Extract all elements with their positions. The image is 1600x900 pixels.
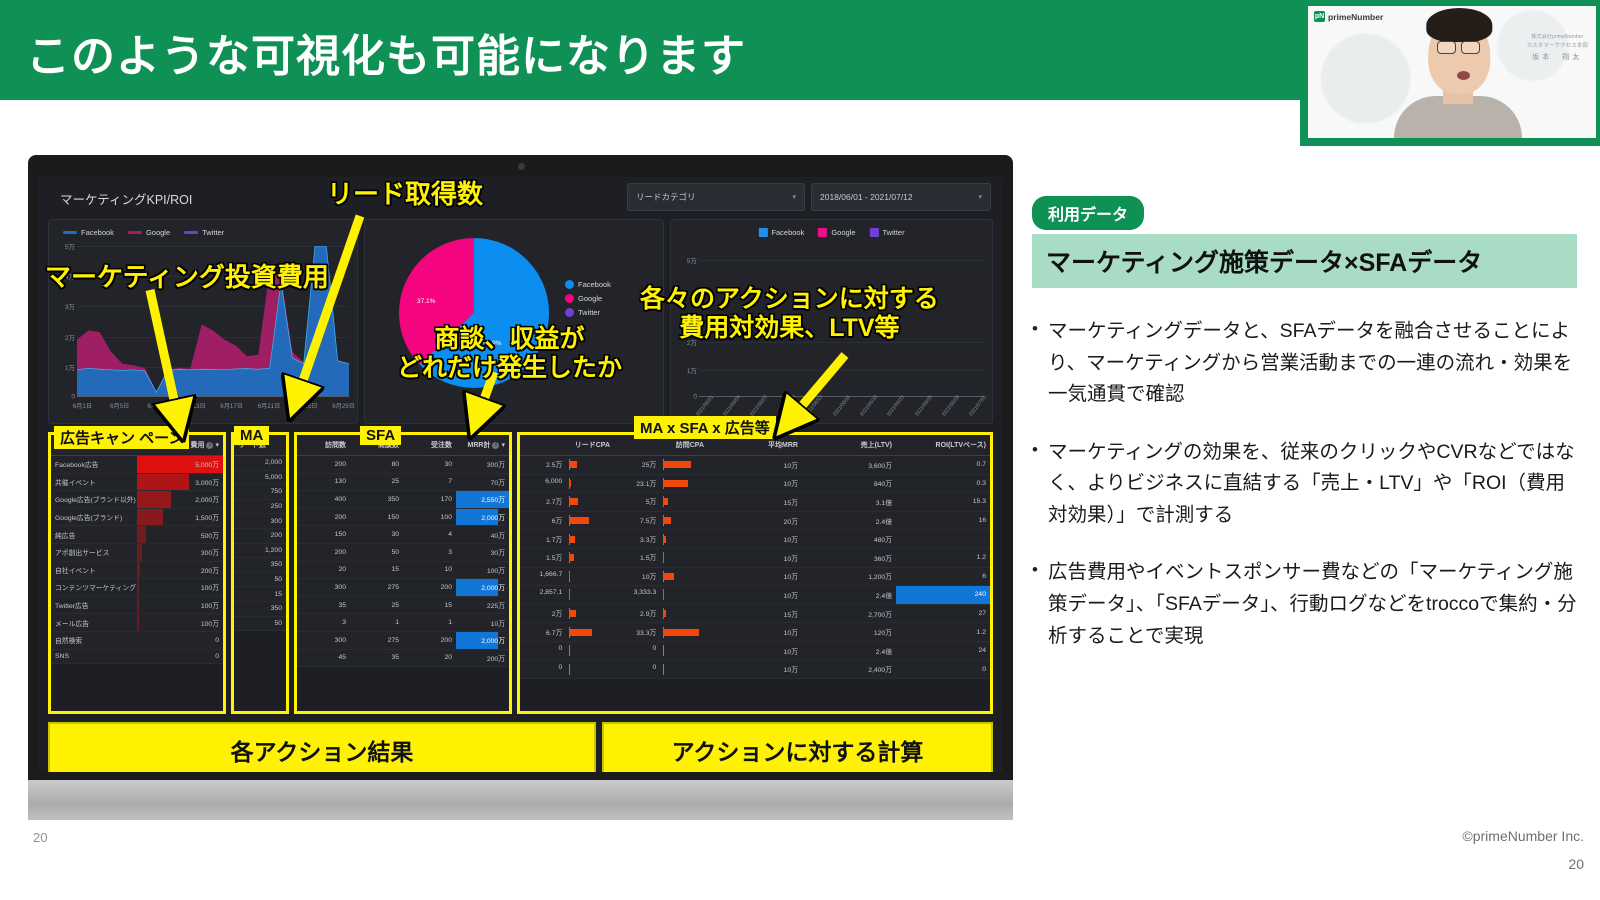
campaign-name: メール広告	[51, 614, 137, 632]
deal-count: 350	[350, 491, 403, 509]
y-tick: 3万	[65, 301, 75, 311]
dashboard-header: マーケティングKPI/ROI リードカテゴリ ▾ 2018/06/01 - 20…	[38, 177, 1003, 219]
visit-count: 200	[297, 508, 350, 526]
roi: 240	[896, 586, 990, 605]
lead-cpa: 2,857.1	[520, 586, 614, 605]
visit-count: 130	[297, 473, 350, 491]
table-row[interactable]: 1,666.7 10万 10万 1,200万 6	[520, 567, 990, 586]
y-tick: 1万	[65, 362, 75, 372]
table-row[interactable]: 1.7万 3.3万 10万 480万	[520, 530, 990, 549]
table-row[interactable]: 50	[234, 572, 286, 587]
mrr-total: 70万	[456, 473, 509, 491]
lead-cpa: 0	[520, 641, 614, 660]
table-row[interactable]: メール広告 100万	[51, 614, 223, 632]
bar-chart-legend: Facebook Google Twitter	[758, 228, 904, 237]
x-tick: 2021/06/13	[804, 394, 824, 417]
x-tick: 2021/06/04	[722, 394, 742, 417]
visit-cpa: 25万	[614, 456, 708, 475]
campaign-cost: 1,500万	[137, 508, 223, 526]
pie-chart-legend: Facebook Google Twitter	[565, 280, 611, 322]
visit-cpa: 0	[614, 641, 708, 660]
lead-cpa: 6.7万	[520, 623, 614, 642]
roi: 27	[896, 604, 990, 623]
lead-count: 50	[234, 616, 286, 631]
ltv: 120万	[802, 623, 896, 642]
campaign-name: 純広告	[51, 526, 137, 544]
table-row[interactable]: 6,000 23.1万 10万 840万 0.3	[520, 474, 990, 493]
table-row[interactable]: 2万 2.9万 15万 2,700万 27	[520, 604, 990, 623]
mrr-total: 30万	[456, 543, 509, 561]
campaign-cost: 2,000万	[137, 491, 223, 509]
mrr-total: 2,000万	[456, 579, 509, 597]
x-tick: 2021/06/28	[941, 394, 961, 417]
deal-count: 35	[350, 649, 403, 667]
lead-cpa: 2万	[520, 604, 614, 623]
deal-count: 15	[350, 561, 403, 579]
legend-swatch	[63, 231, 77, 234]
order-count: 30	[403, 456, 456, 474]
campaign-cost: 300万	[137, 543, 223, 561]
table-row[interactable]: 6.7万 33.3万 10万 120万 1.2	[520, 623, 990, 642]
x-tick: 2021/06/16	[831, 394, 851, 417]
y-tick: 0	[693, 394, 697, 401]
table-row[interactable]: コンテンツマーケティング 100万	[51, 579, 223, 597]
lead-cpa: 1.7万	[520, 530, 614, 549]
order-count: 1	[403, 614, 456, 632]
webcam-panel: pN primeNumber 株式会社primeNumber カスタマーサクセス…	[1300, 0, 1600, 146]
lead-count: 250	[234, 499, 286, 514]
campaign-cost: 0	[137, 631, 223, 649]
y-tick: 5万	[65, 241, 75, 251]
visit-cpa: 5万	[614, 493, 708, 512]
campaign-name: 自社イベント	[51, 561, 137, 579]
deal-count: 25	[350, 473, 403, 491]
bullet-list: • マーケティングデータと、SFAデータを融合させることにより、マーケティングか…	[1032, 316, 1577, 652]
info-icon[interactable]: i	[206, 442, 213, 449]
legend-item: Google	[565, 294, 611, 303]
lead-cpa: 2.5万	[520, 456, 614, 475]
mrr-total: 200万	[456, 649, 509, 667]
order-count: 7	[403, 473, 456, 491]
legend-swatch	[565, 294, 574, 303]
lead-cpa: 1,666.7	[520, 567, 614, 586]
legend-item: Google	[128, 228, 170, 237]
table-row[interactable]: 300	[234, 514, 286, 529]
table-row[interactable]: 5,000	[234, 470, 286, 485]
avg-mrr: 10万	[708, 586, 802, 605]
table-row[interactable]: 200	[234, 528, 286, 543]
x-tick: 6月13日	[183, 401, 206, 410]
lead-cpa: 6万	[520, 511, 614, 530]
mrr-total: 2,000万	[456, 631, 509, 649]
legend-swatch	[565, 308, 574, 317]
legend-item: Facebook	[758, 228, 804, 237]
roi: 0.3	[896, 474, 990, 493]
area-chart-xaxis: 6月1日6月5日6月9日6月13日6月17日6月21日6月25日6月29日	[77, 399, 349, 417]
table-row[interactable]: 純広告 500万	[51, 526, 223, 544]
ltv: 2,400万	[802, 660, 896, 679]
footer-bar-calc: アクションに対する計算	[602, 722, 993, 772]
legend-item: Google	[818, 228, 855, 237]
y-tick: 2万	[65, 332, 75, 342]
table-row[interactable]: 1.5万 1.5万 10万 360万 1.2	[520, 548, 990, 567]
legend-item: Twitter	[870, 228, 905, 237]
roi: 16	[896, 511, 990, 530]
avg-mrr: 20万	[708, 511, 802, 530]
ltv: 480万	[802, 530, 896, 549]
annotation-roi: 各々のアクションに対する 費用対効果、LTV等	[640, 285, 939, 343]
order-count: 100	[403, 508, 456, 526]
campaign-name: SNS	[51, 649, 137, 664]
table-row[interactable]: 15	[234, 587, 286, 602]
campaign-cost: 100万	[137, 579, 223, 597]
order-count: 200	[403, 631, 456, 649]
laptop-base	[28, 780, 1013, 820]
sfa-table: 訪問数商談数受注数MRR計i▾ 200 80 30 300万 130 25 7 …	[297, 435, 509, 667]
roi: 0	[896, 660, 990, 679]
deal-count: 50	[350, 543, 403, 561]
info-icon[interactable]: i	[492, 442, 499, 449]
dashboard-title: マーケティングKPI/ROI	[60, 189, 192, 208]
campaign-name: Google広告(ブランド以外)	[51, 491, 137, 509]
pie-slice-label: 37.1%	[417, 298, 435, 305]
campaign-name: 自然検索	[51, 631, 137, 649]
table-row[interactable]: 300 275 200 2,000万	[297, 579, 509, 597]
visit-count: 200	[297, 456, 350, 474]
label-ma: MA	[234, 426, 269, 445]
avg-mrr: 10万	[708, 623, 802, 642]
visit-count: 150	[297, 526, 350, 544]
campaign-name: コンテンツマーケティング	[51, 579, 137, 597]
visit-cpa: 23.1万	[614, 474, 708, 493]
deal-count: 30	[350, 526, 403, 544]
category-filter-dropdown[interactable]: リードカテゴリ ▾	[627, 183, 805, 211]
lead-cpa: 1.5万	[520, 548, 614, 567]
x-tick: 2021/06/25	[914, 394, 934, 417]
table-row[interactable]: 130 25 7 70万	[297, 473, 509, 491]
list-item: • 広告費用やイベントスポンサー費などの「マーケティング施策データ」、「SFAデ…	[1032, 557, 1577, 652]
table-row[interactable]: Twitter広告 100万	[51, 596, 223, 614]
table-row[interactable]: SNS 0	[51, 649, 223, 664]
campaign-cost: 0	[137, 649, 223, 664]
x-tick: 6月21日	[258, 401, 281, 410]
glasses-icon	[1437, 41, 1456, 54]
list-item: • マーケティングデータと、SFAデータを融合させることにより、マーケティングか…	[1032, 316, 1577, 411]
x-tick: 6月1日	[73, 401, 92, 410]
avg-mrr: 10万	[708, 474, 802, 493]
annotation-investment: マーケティング投資費用	[45, 263, 329, 293]
table-row[interactable]: 0 0 10万 2.4億 24	[520, 641, 990, 660]
area-chart-legend: Facebook Google Twitter	[63, 228, 224, 237]
legend-swatch	[128, 231, 142, 234]
laptop-camera-icon	[518, 163, 525, 170]
table-row[interactable]: 750	[234, 485, 286, 500]
x-tick: 2021/06/10	[777, 394, 797, 417]
deal-count: 25	[350, 596, 403, 614]
tables-row: リ 費用i▾ Facebook広告 5,000万 共催イベント 3,000万 G…	[38, 424, 1003, 714]
speaker-caption: 株式会社primeNumber カスタマーサクセス本部 坂本 翔太	[1527, 34, 1588, 63]
legend-swatch	[565, 280, 574, 289]
mrr-total: 2,000万	[456, 508, 509, 526]
table-row[interactable]: Google広告(ブランド以外) 2,000万	[51, 491, 223, 509]
column-header[interactable]: 受注数	[403, 435, 456, 456]
page-number-right: 20	[1568, 856, 1584, 872]
column-header[interactable]: 訪問数	[297, 435, 350, 456]
legend-item: Facebook	[63, 228, 114, 237]
lead-cpa: 6,000	[520, 474, 614, 493]
mrr-total: 10万	[456, 614, 509, 632]
x-tick: 6月9日	[147, 401, 166, 410]
column-header[interactable]: MRR計i▾	[456, 435, 509, 456]
roi: 0.7	[896, 456, 990, 475]
x-tick: 6月25日	[295, 401, 318, 410]
visit-cpa: 2.9万	[614, 604, 708, 623]
y-tick: 1万	[687, 365, 697, 375]
x-tick: 2021/06/22	[886, 394, 906, 417]
visit-cpa: 3,333.3	[614, 586, 708, 605]
webcam-video: pN primeNumber 株式会社primeNumber カスタマーサクセス…	[1308, 6, 1596, 138]
y-tick: 0	[71, 394, 75, 401]
lead-count: 350	[234, 601, 286, 616]
order-count: 10	[403, 561, 456, 579]
table-row[interactable]: 2.5万 25万 10万 3,600万 0.7	[520, 456, 990, 475]
order-count: 20	[403, 649, 456, 667]
visit-cpa: 33.3万	[614, 623, 708, 642]
table-row[interactable]: 200 150 100 2,000万	[297, 508, 509, 526]
legend-swatch	[870, 228, 879, 237]
campaign-name: 共催イベント	[51, 473, 137, 491]
x-tick: 2021/06/19	[859, 394, 879, 417]
legend-item: Twitter	[184, 228, 224, 237]
legend-item: Facebook	[565, 280, 611, 289]
annotation-revenue: 商談、収益が どれだけ発生したか	[397, 325, 622, 383]
ltv: 2.4億	[802, 586, 896, 605]
mrr-total: 300万	[456, 456, 509, 474]
label-calc: MA x SFA x 広告等	[634, 416, 776, 439]
visit-count: 300	[297, 631, 350, 649]
logo-mark-icon: pN	[1314, 11, 1325, 22]
legend-swatch	[184, 231, 198, 234]
campaign-cost: 100万	[137, 614, 223, 632]
deal-count: 80	[350, 456, 403, 474]
table-row[interactable]: 50	[234, 616, 286, 631]
visit-cpa: 10万	[614, 567, 708, 586]
mrr-total: 40万	[456, 526, 509, 544]
table-row[interactable]: Google広告(ブランド) 1,500万	[51, 508, 223, 526]
deal-count: 275	[350, 579, 403, 597]
campaign-table-box: リ 費用i▾ Facebook広告 5,000万 共催イベント 3,000万 G…	[48, 432, 226, 714]
slide-title-bar: このような可視化も可能になります	[0, 0, 1310, 100]
table-row[interactable]: 共催イベント 3,000万	[51, 473, 223, 491]
campaign-cost: 200万	[137, 561, 223, 579]
ma-table-box: リード数 2,0005,0007502503002001,20035050153…	[231, 432, 289, 714]
visit-count: 35	[297, 596, 350, 614]
order-count: 4	[403, 526, 456, 544]
visit-count: 45	[297, 649, 350, 667]
roi: 6	[896, 567, 990, 586]
order-count: 200	[403, 579, 456, 597]
avg-mrr: 10万	[708, 456, 802, 475]
visit-count: 3	[297, 614, 350, 632]
visit-count: 20	[297, 561, 350, 579]
table-row[interactable]: 3 1 1 10万	[297, 614, 509, 632]
lead-count: 2,000	[234, 456, 286, 471]
campaign-table: リ 費用i▾ Facebook広告 5,000万 共催イベント 3,000万 G…	[51, 435, 223, 664]
y-tick: 5万	[687, 255, 697, 265]
lead-count: 1,200	[234, 543, 286, 558]
table-row[interactable]: 0 0 10万 2,400万 0	[520, 660, 990, 679]
table-row[interactable]: 6万 7.5万 20万 2.4億 16	[520, 511, 990, 530]
table-row[interactable]: 200 80 30 300万	[297, 456, 509, 474]
visit-count: 300	[297, 579, 350, 597]
area-chart-card: Facebook Google Twitter 01万2万3万4万5万 6月1日…	[48, 219, 358, 424]
lead-count: 5,000	[234, 470, 286, 485]
campaign-name: アポ創出サービス	[51, 543, 137, 561]
deal-count: 1	[350, 614, 403, 632]
visit-cpa: 0	[614, 660, 708, 679]
avg-mrr: 15万	[708, 604, 802, 623]
ltv: 2.4億	[802, 511, 896, 530]
page-number-left: 20	[33, 830, 47, 845]
campaign-name: Twitter広告	[51, 596, 137, 614]
ltv: 840万	[802, 474, 896, 493]
avg-mrr: 10万	[708, 548, 802, 567]
pie-chart-card: 37.1% 62.9% Facebook Google Twitter	[364, 219, 664, 424]
side-subtitle: マーケティング施策データ×SFAデータ	[1032, 234, 1577, 288]
table-row[interactable]: アポ創出サービス 300万	[51, 543, 223, 561]
x-tick: 2021/06/07	[749, 394, 769, 417]
copyright-text: ©primeNumber Inc.	[1462, 828, 1584, 844]
calc-table-box: リードCPA訪問CPA平均MRR売上(LTV)ROI(LTVベース) 2.5万 …	[517, 432, 993, 714]
speaker-figure	[1390, 16, 1526, 138]
ltv: 1,200万	[802, 567, 896, 586]
avg-mrr: 10万	[708, 660, 802, 679]
column-header[interactable]: 売上(LTV)	[802, 435, 896, 456]
table-row[interactable]: 1,200	[234, 543, 286, 558]
order-count: 170	[403, 491, 456, 509]
label-sfa: SFA	[360, 426, 401, 445]
column-header[interactable]: リードCPA	[520, 435, 614, 456]
avg-mrr: 10万	[708, 567, 802, 586]
roi: 1.2	[896, 623, 990, 642]
roi	[896, 530, 990, 549]
campaign-cost: 3,000万	[137, 473, 223, 491]
table-row[interactable]: 自然検索 0	[51, 631, 223, 649]
roi: 24	[896, 641, 990, 660]
x-tick: 6月17日	[220, 401, 243, 410]
lead-cpa: 2.7万	[520, 493, 614, 512]
x-tick: 2021/07/01	[968, 394, 988, 417]
ma-table: リード数 2,0005,0007502503002001,20035050153…	[234, 435, 286, 631]
table-row[interactable]: 自社イベント 200万	[51, 561, 223, 579]
table-row[interactable]: Facebook広告 5,000万	[51, 456, 223, 474]
table-row[interactable]: 400 350 170 2,550万	[297, 491, 509, 509]
avg-mrr: 10万	[708, 530, 802, 549]
date-range-dropdown[interactable]: 2018/06/01 - 2021/07/12 ▾	[811, 183, 991, 211]
table-row[interactable]: 200 50 3 30万	[297, 543, 509, 561]
avg-mrr: 10万	[708, 641, 802, 660]
visit-cpa: 7.5万	[614, 511, 708, 530]
footer-bars: 各アクション結果 アクションに対する計算	[38, 714, 1003, 772]
visit-count: 200	[297, 543, 350, 561]
ltv: 3.1億	[802, 493, 896, 512]
bullet-icon: •	[1032, 557, 1038, 652]
roi: 1.2	[896, 548, 990, 567]
table-row[interactable]: 300 275 200 2,000万	[297, 631, 509, 649]
page-title: このような可視化も可能になります	[26, 20, 746, 84]
annotation-leads: リード取得数	[327, 180, 483, 210]
campaign-cost: 100万	[137, 596, 223, 614]
campaign-cost: 5,000万	[137, 456, 223, 474]
table-row[interactable]: 2.7万 5万 15万 3.1億 15.3	[520, 493, 990, 512]
x-tick: 6月5日	[110, 401, 129, 410]
label-campaign: 広告キャン ペーン	[54, 426, 189, 449]
lead-count: 15	[234, 587, 286, 602]
deal-count: 150	[350, 508, 403, 526]
table-row[interactable]: 20 15 10 100万	[297, 561, 509, 579]
campaign-name: Google広告(ブランド)	[51, 508, 137, 526]
list-item: • マーケティングの効果を、従来のクリックやCVRなどではなく、よりビジネスに直…	[1032, 437, 1577, 532]
ltv: 2,700万	[802, 604, 896, 623]
table-row[interactable]: 2,857.1 3,333.3 10万 2.4億 240	[520, 586, 990, 605]
campaign-name: Facebook広告	[51, 456, 137, 474]
chevron-down-icon: ▾	[978, 193, 982, 201]
footer-bar-actions: 各アクション結果	[48, 722, 596, 772]
x-tick: 2021/06/01	[695, 394, 715, 417]
sfa-table-box: 訪問数商談数受注数MRR計i▾ 200 80 30 300万 130 25 7 …	[294, 432, 512, 714]
ltv: 3,600万	[802, 456, 896, 475]
table-row[interactable]: 350	[234, 558, 286, 573]
campaign-cost: 500万	[137, 526, 223, 544]
bar-chart-xaxis: 2021/06/012021/06/042021/06/072021/06/10…	[699, 399, 984, 417]
side-panel: 利用データ マーケティング施策データ×SFAデータ • マーケティングデータと、…	[1032, 196, 1577, 678]
table-row[interactable]: 350	[234, 601, 286, 616]
visit-count: 400	[297, 491, 350, 509]
chevron-down-icon: ▾	[792, 193, 796, 201]
mrr-total: 100万	[456, 561, 509, 579]
bullet-icon: •	[1032, 316, 1038, 411]
primenumber-logo: pN primeNumber	[1314, 11, 1383, 22]
table-row[interactable]: 150 30 4 40万	[297, 526, 509, 544]
deal-count: 275	[350, 631, 403, 649]
lead-count: 750	[234, 485, 286, 500]
roi: 15.3	[896, 493, 990, 512]
visit-cpa: 3.3万	[614, 530, 708, 549]
calc-table: リードCPA訪問CPA平均MRR売上(LTV)ROI(LTVベース) 2.5万 …	[520, 435, 990, 679]
visit-cpa: 1.5万	[614, 548, 708, 567]
ltv: 2.4億	[802, 641, 896, 660]
order-count: 3	[403, 543, 456, 561]
mrr-total: 225万	[456, 596, 509, 614]
ltv: 360万	[802, 548, 896, 567]
avg-mrr: 15万	[708, 493, 802, 512]
bullet-icon: •	[1032, 437, 1038, 532]
table-row[interactable]: 250	[234, 499, 286, 514]
table-row[interactable]: 35 25 15 225万	[297, 596, 509, 614]
lead-count: 350	[234, 558, 286, 573]
data-chip: 利用データ	[1032, 196, 1144, 230]
legend-swatch	[818, 228, 827, 237]
lead-count: 50	[234, 572, 286, 587]
lead-cpa: 0	[520, 660, 614, 679]
laptop-mockup: マーケティングKPI/ROI リードカテゴリ ▾ 2018/06/01 - 20…	[28, 155, 1013, 780]
x-tick: 6月29日	[332, 401, 355, 410]
lead-count: 200	[234, 528, 286, 543]
table-row[interactable]: 2,000	[234, 456, 286, 471]
column-header[interactable]: ROI(LTVベース)	[896, 435, 990, 456]
table-row[interactable]: 45 35 20 200万	[297, 649, 509, 667]
legend-item: Twitter	[565, 308, 611, 317]
